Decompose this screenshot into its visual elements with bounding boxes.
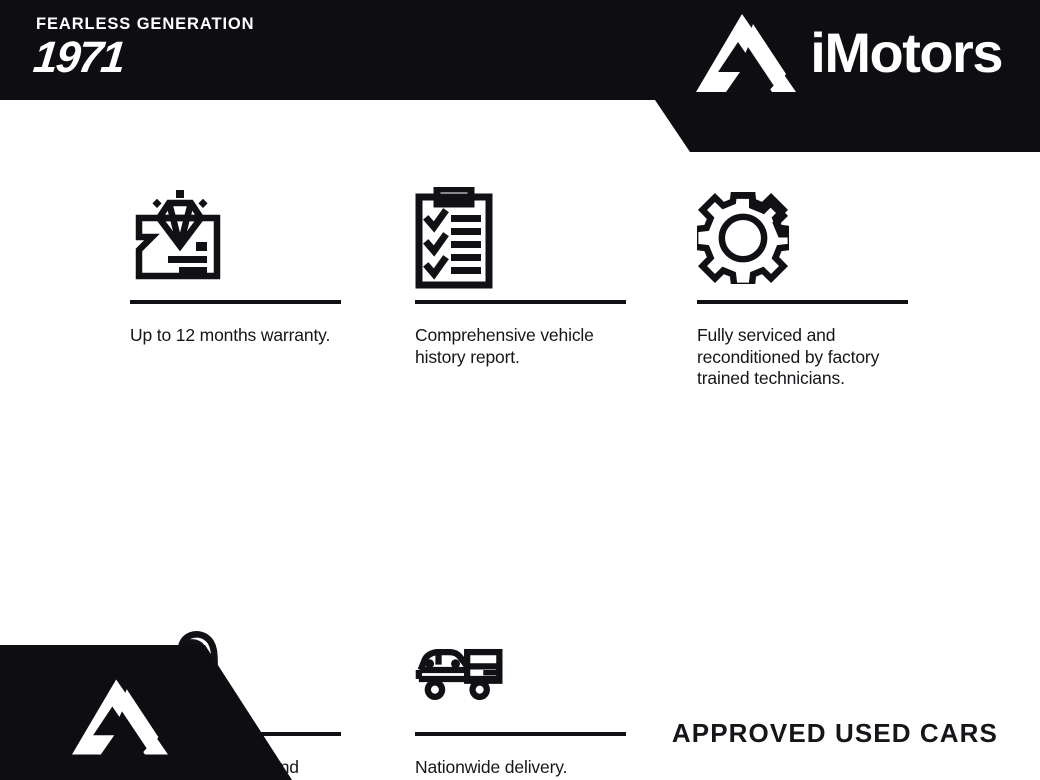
feature-item-history-report: Comprehensive vehicle history report. (415, 182, 630, 368)
imotors-chevron-logo-icon (696, 14, 796, 92)
feature-label: Up to 12 months warranty. (130, 325, 345, 347)
feature-label: Comprehensive vehicle history report. (415, 325, 630, 368)
anniversary-year: 1971 (31, 35, 366, 81)
clipboard-checklist-icon (415, 187, 493, 289)
certificate-diamond-icon (130, 188, 226, 288)
feature-divider (130, 300, 341, 304)
feature-grid: Up to 12 months warranty. (0, 160, 1040, 596)
footer-tagline: APPROVED USED CARS (672, 720, 998, 746)
brand-wordmark: iMotors (810, 25, 1002, 81)
feature-row: Up to 12 months warranty. (0, 160, 1040, 376)
footer-imotors-chevron-logo-icon[interactable] (72, 676, 168, 758)
feature-divider (697, 300, 908, 304)
feature-item-warranty: Up to 12 months warranty. (130, 182, 345, 347)
marketing-slide: FEARLESS GENERATION 1971 iMotors (0, 0, 1040, 780)
feature-icon-slot (415, 182, 630, 294)
feature-divider (415, 300, 626, 304)
brand-logo[interactable]: iMotors (696, 14, 1002, 92)
feature-icon-slot (130, 182, 345, 294)
gear-icon (697, 192, 789, 284)
feature-icon-slot (697, 182, 912, 294)
anniversary-title: FEARLESS GENERATION (36, 16, 366, 33)
feature-row: Professional valet and preparation befor… (0, 376, 1040, 596)
feature-item-serviced: Fully serviced and reconditioned by fact… (697, 182, 912, 390)
anniversary-badge: FEARLESS GENERATION 1971 (36, 16, 366, 81)
header: FEARLESS GENERATION 1971 iMotors (0, 0, 1040, 102)
